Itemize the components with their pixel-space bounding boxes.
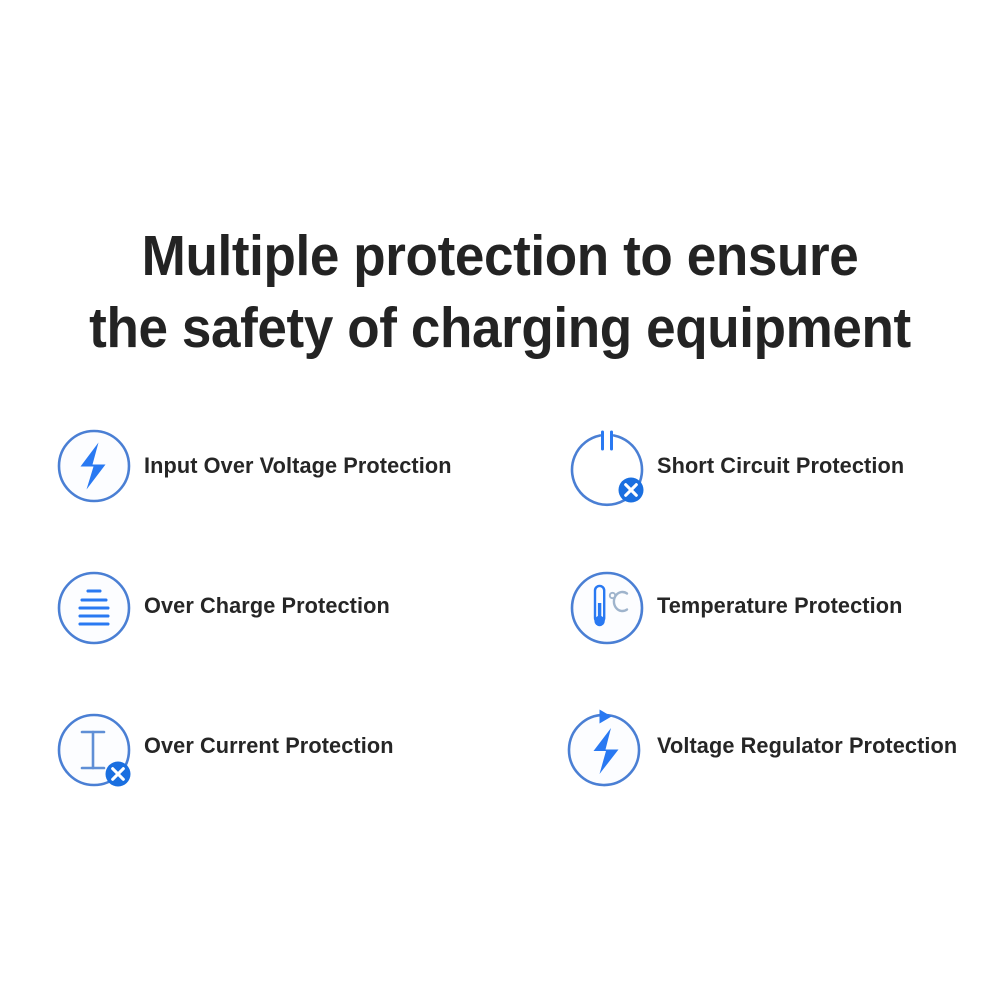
thermometer-celsius-circle-icon [561,562,653,654]
page-title: Multiple protection to ensure the safety… [35,220,965,364]
protection-feature-grid: Input Over Voltage Protection Short Circ… [48,418,968,838]
feature-label: Over Current Protection [144,733,394,759]
feature-short-circuit: Short Circuit Protection [553,418,968,514]
feature-label: Input Over Voltage Protection [144,453,452,479]
feature-label: Temperature Protection [657,593,902,619]
current-bar-cross-circle-icon [48,704,140,796]
page-title-line-1: Multiple protection to ensure [35,220,965,292]
battery-levels-circle-icon [48,562,140,654]
feature-over-current: Over Current Protection [48,698,553,794]
feature-input-over-voltage: Input Over Voltage Protection [48,418,553,514]
refresh-lightning-circle-icon [561,704,653,796]
feature-temperature: Temperature Protection [553,558,968,654]
feature-voltage-regulator: Voltage Regulator Protection [553,698,968,794]
feature-label: Over Charge Protection [144,593,390,619]
feature-over-charge: Over Charge Protection [48,558,553,654]
infographic-page: Multiple protection to ensure the safety… [0,0,1000,1000]
short-circuit-plug-icon [561,420,653,512]
lightning-bolt-circle-icon [48,420,140,512]
feature-label: Short Circuit Protection [657,453,904,479]
page-title-line-2: the safety of charging equipment [35,292,965,364]
feature-label: Voltage Regulator Protection [657,733,957,759]
